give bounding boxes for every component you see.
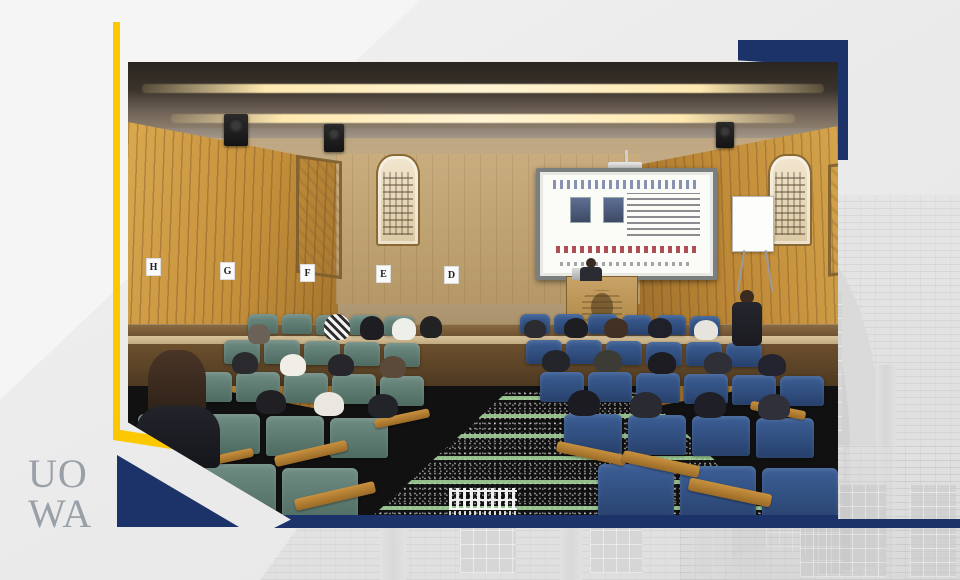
audience-person: [630, 392, 662, 418]
kufic-glyphs: [449, 488, 517, 510]
ceiling-light-strip-2: [171, 114, 796, 123]
audience-person: [420, 316, 442, 338]
calligraphy-text-left: [383, 172, 413, 235]
audience-person-hijab: [280, 354, 306, 376]
row-letter-e: E: [376, 265, 391, 283]
audience-person: [604, 318, 628, 338]
step-edge-4: [414, 456, 733, 460]
seat-blue: [598, 464, 674, 522]
uowa-line-1: UO: [28, 455, 124, 493]
audience-person: [694, 392, 726, 418]
standing-attendee-body: [732, 302, 762, 346]
audience-person: [758, 354, 786, 376]
audience-person: [248, 324, 270, 344]
ceiling-speaker-right: [716, 122, 734, 148]
calligraphy-panel-left: [376, 154, 420, 246]
seat-green: [282, 314, 312, 334]
audience-person: [568, 390, 600, 416]
ceiling-speaker-left-2: [324, 124, 344, 152]
projection-screen: [536, 168, 717, 280]
audience-person: [256, 390, 286, 414]
audience-person-hijab: [314, 392, 344, 416]
row-letter-f: F: [300, 264, 315, 282]
audience-person: [648, 352, 676, 374]
audience-person-hijab: [324, 314, 350, 340]
slide-title-text: [556, 246, 696, 253]
slide-body-text: [627, 193, 700, 236]
audience-person: [524, 320, 546, 338]
audience-person: [594, 350, 622, 372]
speaker-torso: [580, 267, 602, 281]
navy-bottom-bar: [300, 519, 960, 528]
audience-person: [360, 316, 384, 340]
calligraphy-panel-right: [768, 154, 812, 246]
ceiling-light-strip-1: [142, 84, 824, 93]
photo-content: H G F E D: [128, 62, 838, 524]
audience-person: [380, 356, 406, 378]
lecture-hall-photograph: H G F E D: [128, 62, 838, 524]
row-letter-g: G: [220, 262, 235, 280]
audience-person: [704, 352, 732, 374]
watermark-bottom-window-4: [910, 485, 956, 577]
audience-person: [758, 394, 790, 420]
audience-person: [328, 354, 354, 376]
seat-blue: [756, 418, 814, 458]
wall-ornament-left: [296, 155, 342, 279]
seat-blue: [628, 415, 686, 455]
ceiling-speaker-left-1: [224, 114, 248, 146]
kufic-arabic-wordmark: [449, 488, 517, 510]
slide-header-text: [553, 180, 700, 189]
audience-person-hijab: [694, 320, 718, 340]
row-letter-h: H: [146, 258, 161, 276]
audience-person-hijab: [392, 318, 416, 340]
yellow-accent-stripe-vertical: [113, 22, 120, 440]
flip-chart-board: [732, 196, 774, 252]
poster-canvas: H G F E D: [0, 0, 960, 580]
uowa-monogram: UO WA: [28, 455, 124, 535]
wall-ornament-right: [828, 159, 838, 277]
audience-person: [564, 318, 588, 338]
audience-person: [542, 350, 570, 372]
calligraphy-text-right: [775, 172, 805, 235]
audience-person: [368, 394, 398, 418]
audience-person: [232, 352, 258, 374]
slide-portrait-1: [570, 197, 591, 223]
slide-portrait-2: [603, 197, 624, 223]
speaker-person: [580, 258, 602, 280]
seat-blue: [692, 416, 750, 456]
presentation-slide: [543, 175, 710, 273]
audience-person: [648, 318, 672, 338]
row-letter-d: D: [444, 266, 459, 284]
uowa-line-2: WA: [28, 495, 124, 533]
